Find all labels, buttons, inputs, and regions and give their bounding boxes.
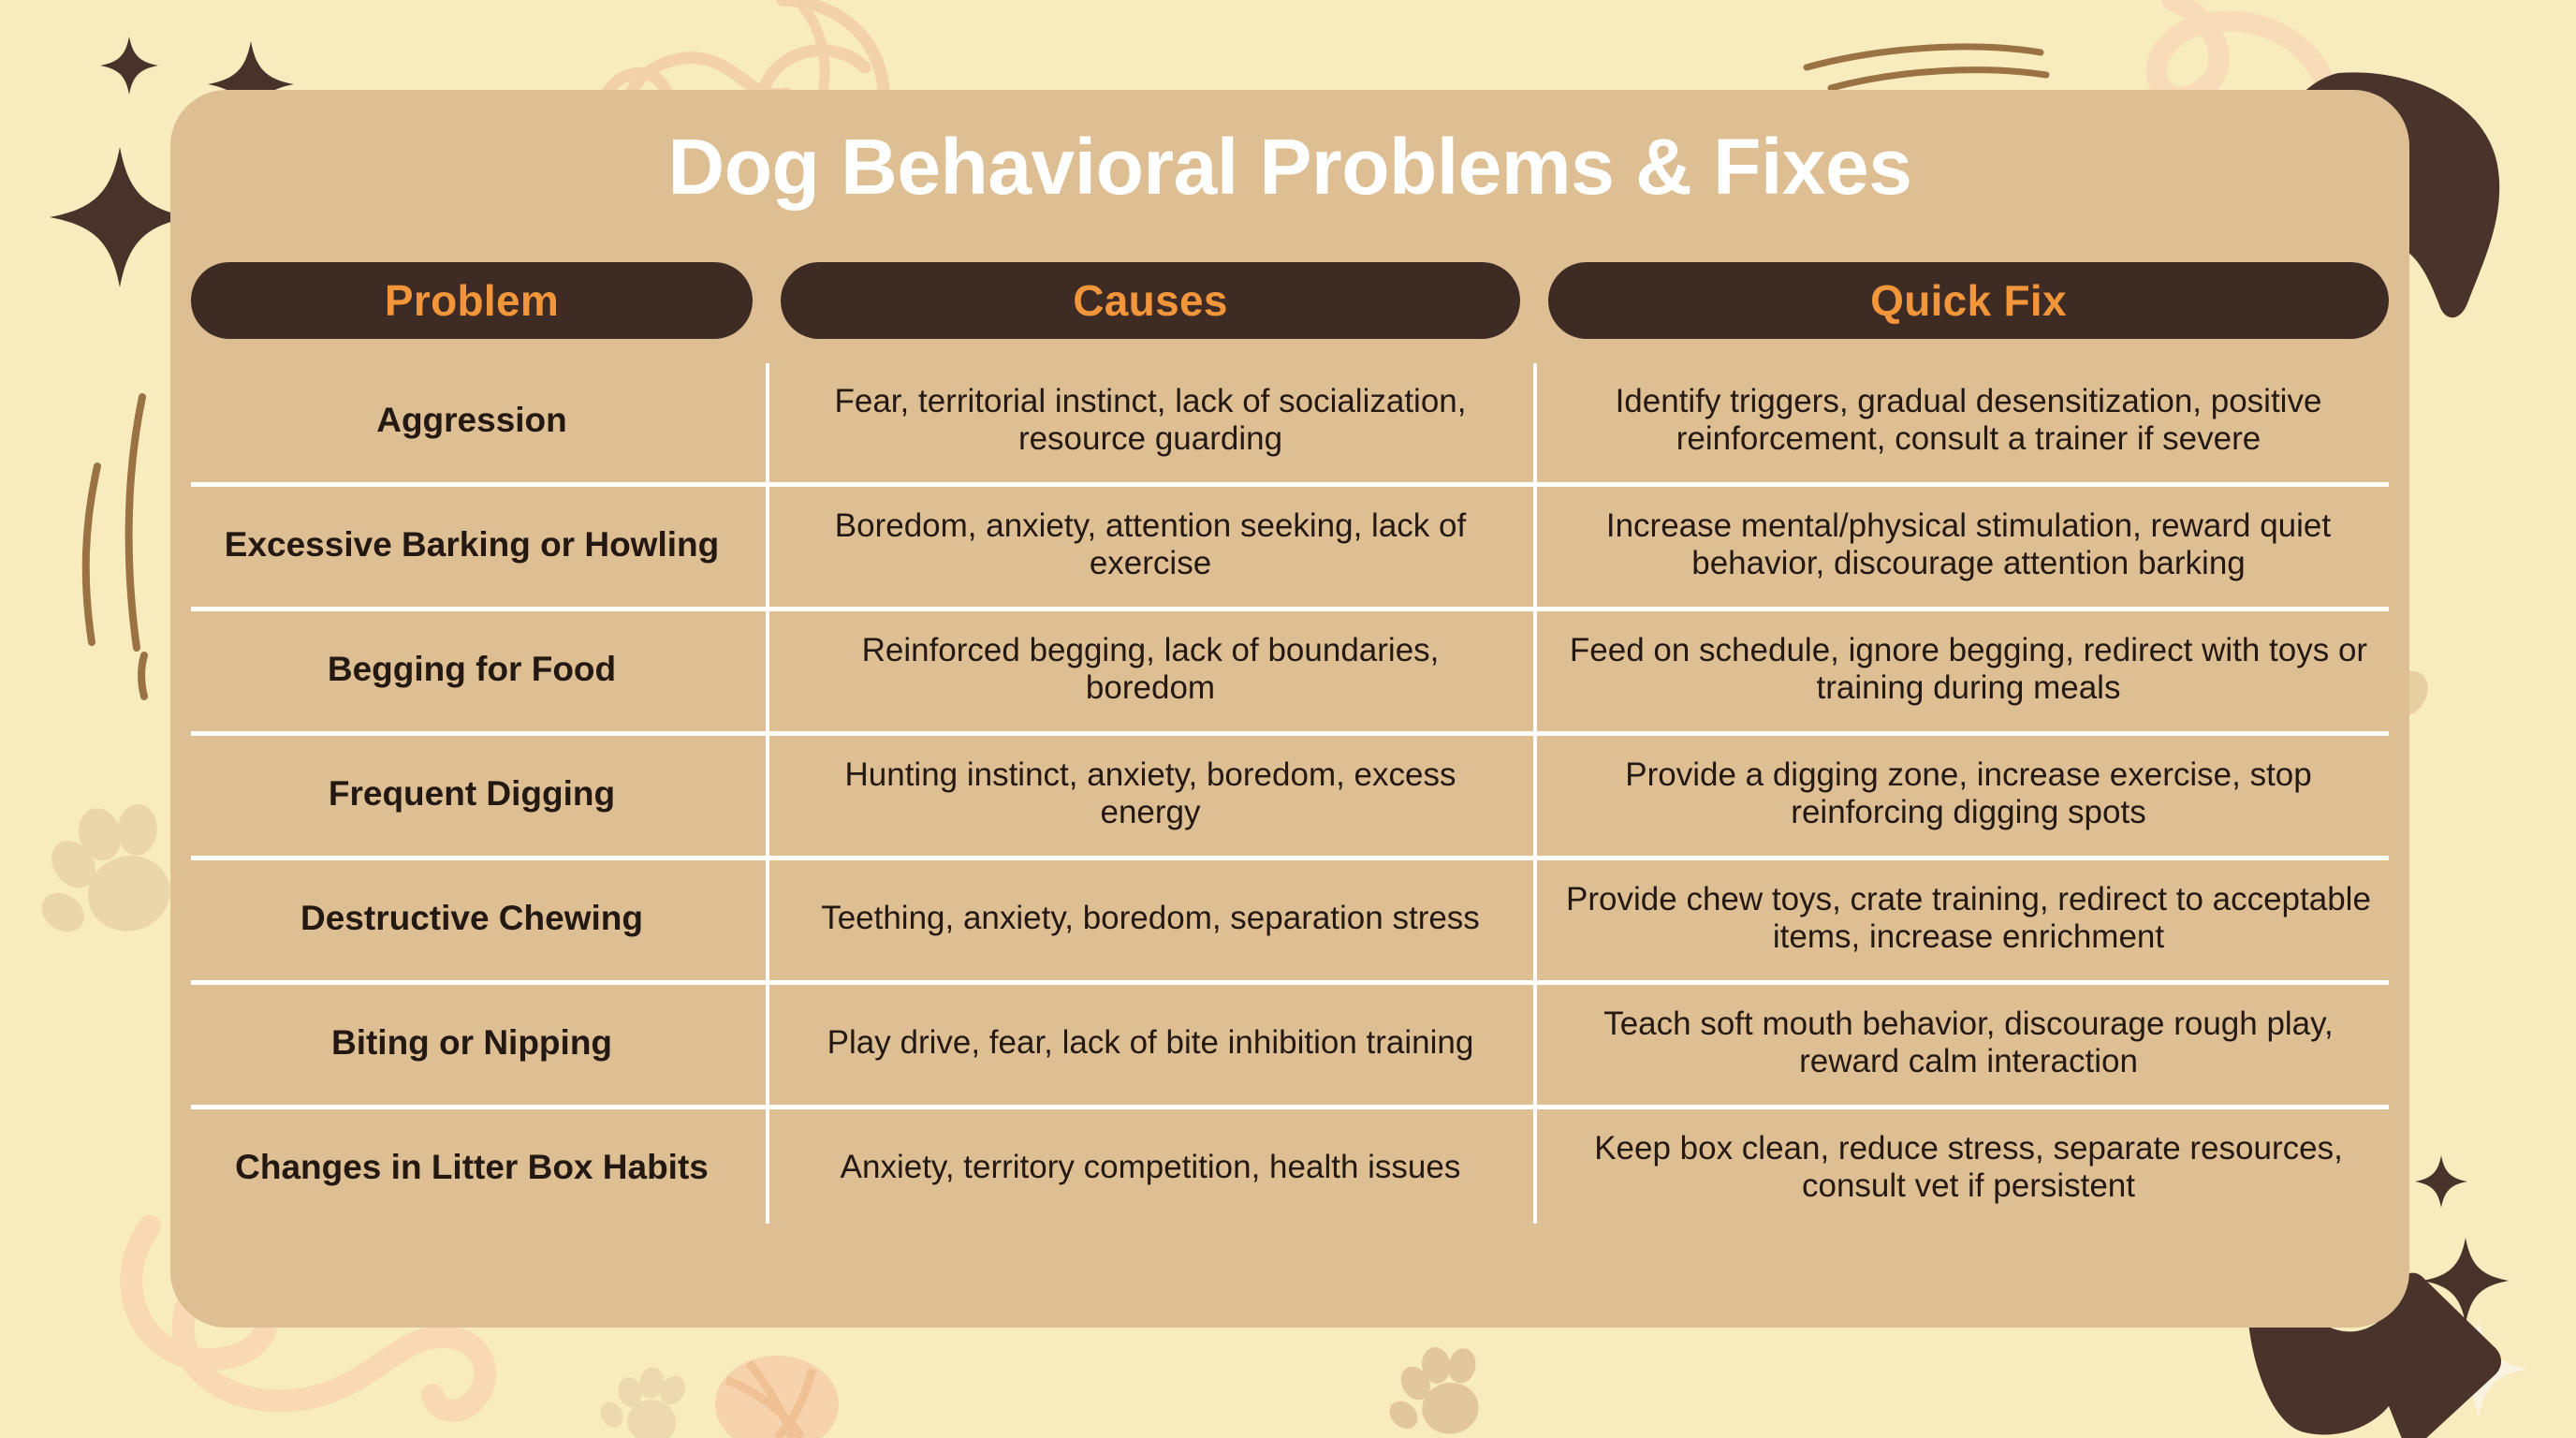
- table-header-row: Problem Causes Quick Fix: [170, 262, 2409, 339]
- table-row: Destructive Chewing Teething, anxiety, b…: [191, 856, 2389, 980]
- sparkle-icon: [2430, 1320, 2528, 1418]
- cell-quick-fix: Provide a digging zone, increase exercis…: [1548, 731, 2389, 856]
- cell-causes: Boredom, anxiety, attention seeking, lac…: [781, 482, 1520, 607]
- cell-problem: Aggression: [191, 358, 753, 482]
- table-card: Dog Behavioral Problems & Fixes Problem …: [170, 90, 2409, 1328]
- column-header-causes: Causes: [781, 262, 1520, 339]
- cell-quick-fix: Teach soft mouth behavior, discourage ro…: [1548, 980, 2389, 1105]
- column-header-label: Causes: [1073, 275, 1227, 326]
- page-title: Dog Behavioral Problems & Fixes: [170, 127, 2409, 206]
- cell-quick-fix: Provide chew toys, crate training, redir…: [1548, 856, 2389, 980]
- cell-problem: Frequent Digging: [191, 731, 753, 856]
- cell-quick-fix: Increase mental/physical stimulation, re…: [1548, 482, 2389, 607]
- sparkle-icon: [2415, 1155, 2467, 1208]
- cell-quick-fix: Identify triggers, gradual desensitizati…: [1548, 358, 2389, 482]
- table-row: Excessive Barking or Howling Boredom, an…: [191, 482, 2389, 607]
- cell-causes: Reinforced begging, lack of boundaries, …: [781, 607, 1520, 731]
- sparkle-icon: [2422, 1238, 2509, 1324]
- cell-problem: Changes in Litter Box Habits: [191, 1105, 753, 1229]
- cell-quick-fix: Keep box clean, reduce stress, separate …: [1548, 1105, 2389, 1229]
- motion-lines-icon: [86, 397, 144, 697]
- column-header-problem: Problem: [191, 262, 753, 339]
- cell-causes: Fear, territorial instinct, lack of soci…: [781, 358, 1520, 482]
- column-header-label: Quick Fix: [1870, 275, 2067, 326]
- cell-quick-fix: Feed on schedule, ignore begging, redire…: [1548, 607, 2389, 731]
- table-row: Begging for Food Reinforced begging, lac…: [191, 607, 2389, 731]
- sparkle-icon: [50, 147, 190, 287]
- cell-problem: Destructive Chewing: [191, 856, 753, 980]
- yarn-ball-icon: [715, 1356, 839, 1438]
- table-row: Aggression Fear, territorial instinct, l…: [191, 358, 2389, 482]
- paw-print-icon: [1376, 1342, 1490, 1438]
- motion-lines-icon: [1807, 47, 2046, 88]
- cell-causes: Play drive, fear, lack of bite inhibitio…: [781, 980, 1520, 1105]
- cell-causes: Teething, anxiety, boredom, separation s…: [781, 856, 1520, 980]
- cell-problem: Begging for Food: [191, 607, 753, 731]
- column-header-quick-fix: Quick Fix: [1548, 262, 2389, 339]
- table-row: Frequent Digging Hunting instinct, anxie…: [191, 731, 2389, 856]
- cell-problem: Excessive Barking or Howling: [191, 482, 753, 607]
- table-row: Changes in Litter Box Habits Anxiety, te…: [191, 1105, 2389, 1229]
- column-header-label: Problem: [385, 275, 559, 326]
- table-row: Biting or Nipping Play drive, fear, lack…: [191, 980, 2389, 1105]
- paw-print-icon: [592, 1358, 692, 1438]
- sparkle-icon: [100, 37, 158, 95]
- cell-problem: Biting or Nipping: [191, 980, 753, 1105]
- cell-causes: Hunting instinct, anxiety, boredom, exce…: [781, 731, 1520, 856]
- paw-print-icon: [10, 791, 190, 956]
- cell-causes: Anxiety, territory competition, health i…: [781, 1105, 1520, 1229]
- table-body: Aggression Fear, territorial instinct, l…: [170, 358, 2409, 1229]
